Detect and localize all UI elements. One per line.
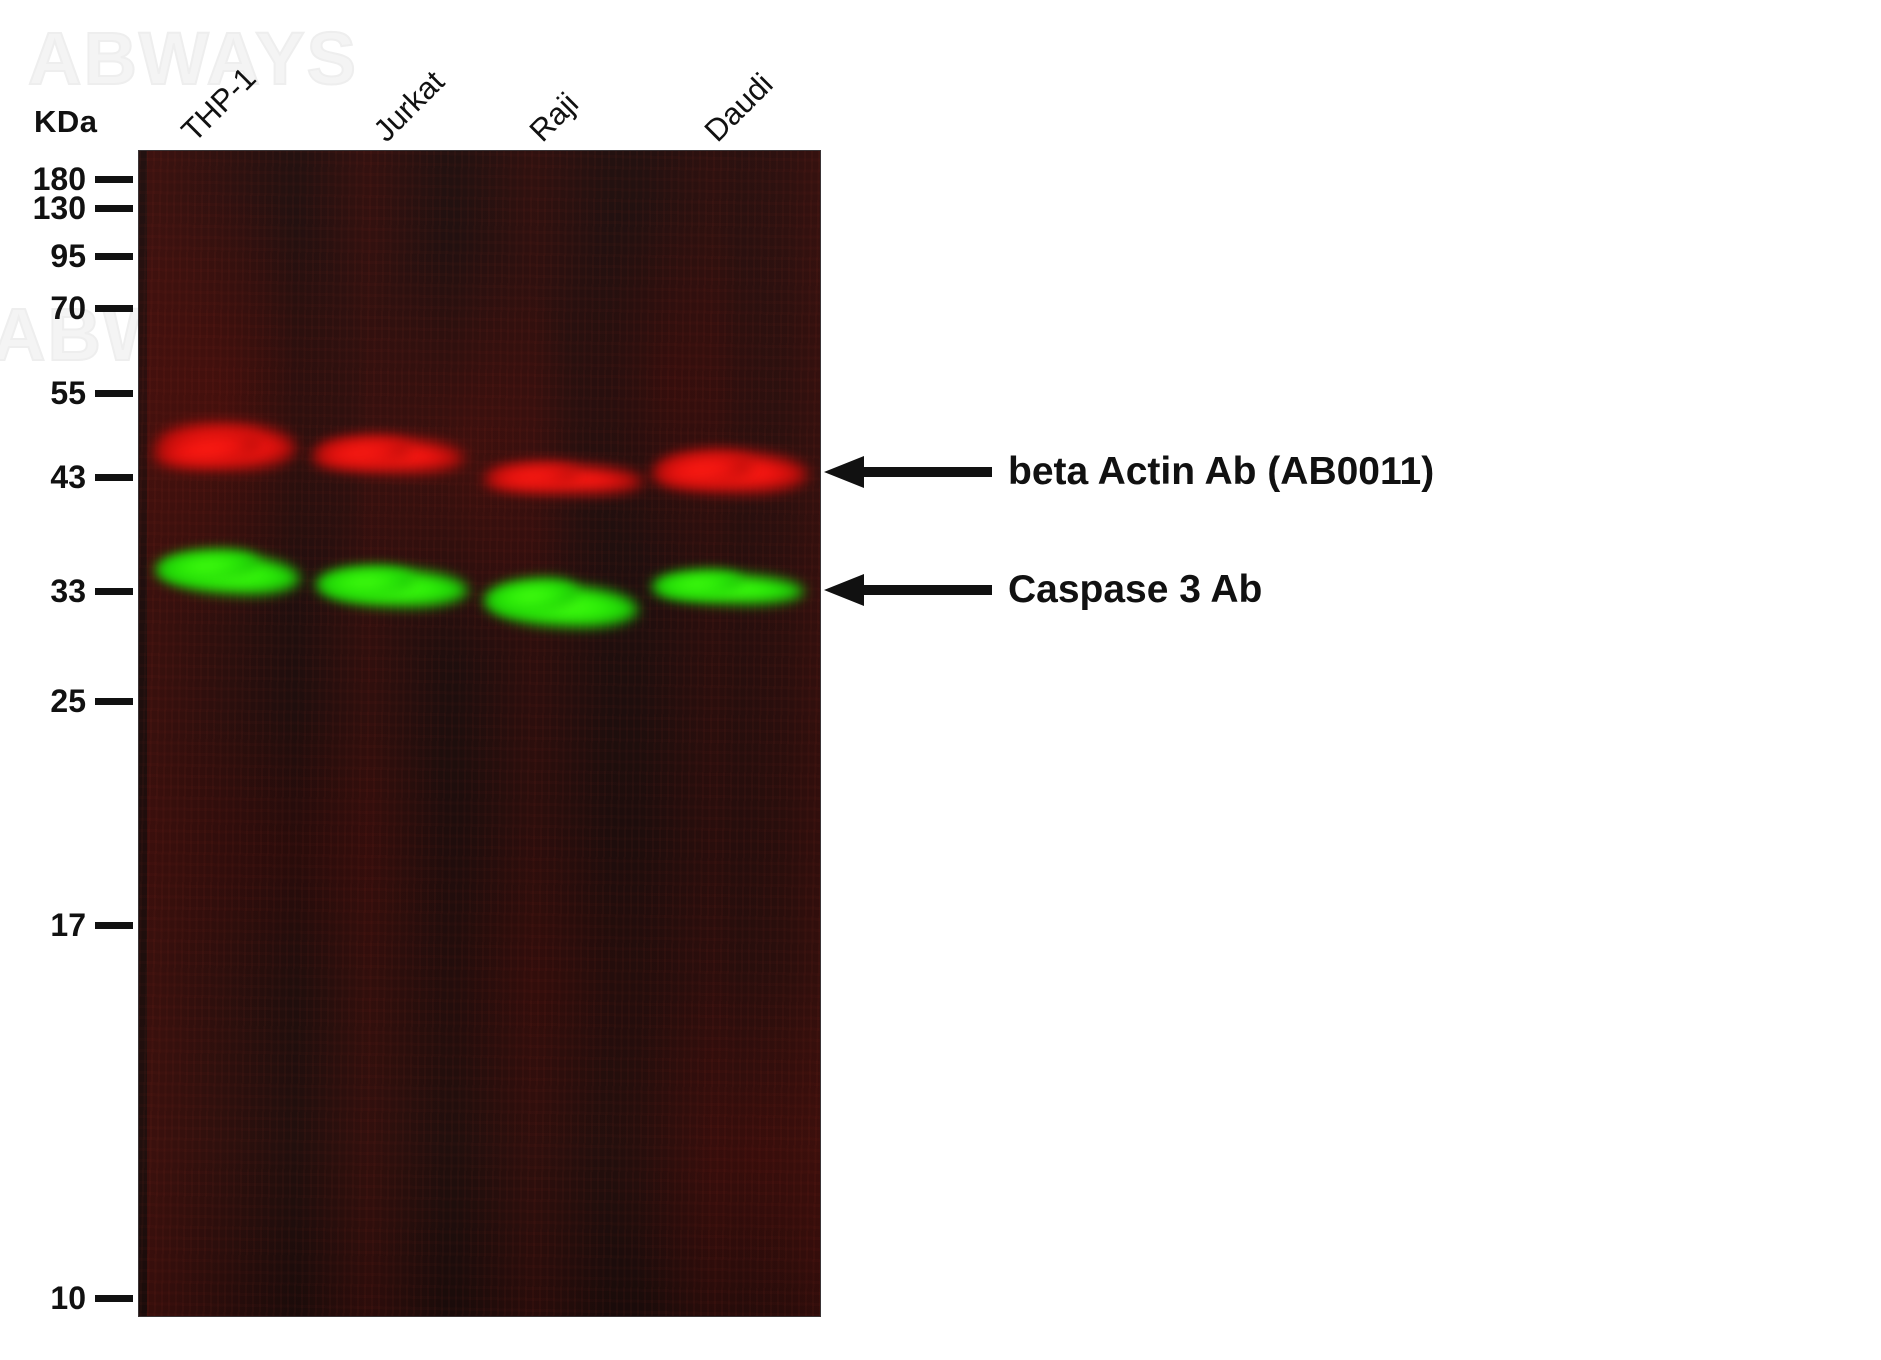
band-red-jurkat-tail [310, 435, 412, 472]
annotation-label: Caspase 3 Ab [1008, 568, 1262, 612]
band-red-daudi [656, 448, 809, 495]
membrane-texture [139, 151, 820, 1316]
band-green-thp1 [158, 549, 302, 599]
ladder-marker-55: 55 [0, 376, 138, 410]
ladder-tick-icon [95, 205, 133, 212]
band-green-jurkat-tail [314, 564, 415, 599]
ladder-tick-icon [95, 922, 133, 929]
ladder-marker-25: 25 [0, 684, 138, 718]
band-green-thp1-tail [154, 547, 260, 586]
ladder-tick-icon [95, 474, 133, 481]
ladder-tick-icon [95, 390, 133, 397]
ladder-marker-70: 70 [0, 291, 138, 325]
ladder-tick-icon [95, 1295, 133, 1302]
blot-membrane [138, 150, 821, 1317]
left-arrow-icon [824, 584, 992, 596]
ladder-marker-17: 17 [0, 908, 138, 942]
lane-label-daudi: Daudi [698, 66, 781, 149]
band-red-raji-tail [482, 462, 579, 493]
ladder-marker-label: 25 [50, 685, 86, 717]
membrane-streak [639, 151, 789, 1316]
lane-label-jurkat: Jurkat [367, 64, 452, 149]
ladder-marker-label: 43 [50, 461, 86, 493]
band-green-raji [488, 581, 640, 631]
annotation-label: beta Actin Ab (AB0011) [1008, 450, 1434, 494]
ladder-tick-icon [95, 698, 133, 705]
ladder-marker-label: 70 [50, 292, 86, 324]
kda-unit-label: KDa [34, 104, 98, 140]
membrane-streak [147, 151, 297, 1316]
ladder-marker-label: 95 [50, 240, 86, 272]
annotation-beta-actin: beta Actin Ab (AB0011) [824, 444, 1434, 500]
annotation-caspase-3: Caspase 3 Ab [824, 562, 1262, 618]
ladder-marker-label: 17 [50, 909, 86, 941]
lane-label-raji: Raji [523, 86, 586, 149]
ladder-marker-label: 130 [33, 192, 86, 224]
band-red-thp1-tail [151, 425, 264, 472]
ladder-tick-icon [95, 253, 133, 260]
molecular-weight-ladder: KDa 180 130 95 70 55 43 33 25 17 10 [0, 0, 140, 1360]
ladder-tick-icon [95, 305, 133, 312]
band-red-daudi-tail [650, 449, 755, 491]
band-green-jurkat [320, 566, 469, 609]
ladder-marker-10: 10 [0, 1281, 138, 1315]
membrane-streak [294, 151, 444, 1316]
ladder-marker-label: 10 [50, 1282, 86, 1314]
band-green-daudi [657, 571, 806, 606]
ladder-marker-label: 55 [50, 377, 86, 409]
ladder-marker-33: 33 [0, 574, 138, 608]
membrane-streak [459, 151, 609, 1316]
band-red-jurkat [316, 434, 465, 476]
ladder-marker-95: 95 [0, 239, 138, 273]
band-red-thp1 [156, 421, 298, 472]
ladder-marker-43: 43 [0, 460, 138, 494]
ladder-marker-label: 33 [50, 575, 86, 607]
left-arrow-icon [824, 466, 992, 478]
band-green-daudi-tail [650, 568, 744, 600]
membrane-streak [739, 151, 821, 1316]
band-green-raji-tail [481, 574, 580, 618]
band-red-raji [489, 461, 646, 496]
ladder-tick-icon [95, 176, 133, 183]
ladder-tick-icon [95, 588, 133, 595]
ladder-marker-130: 130 [0, 191, 138, 225]
